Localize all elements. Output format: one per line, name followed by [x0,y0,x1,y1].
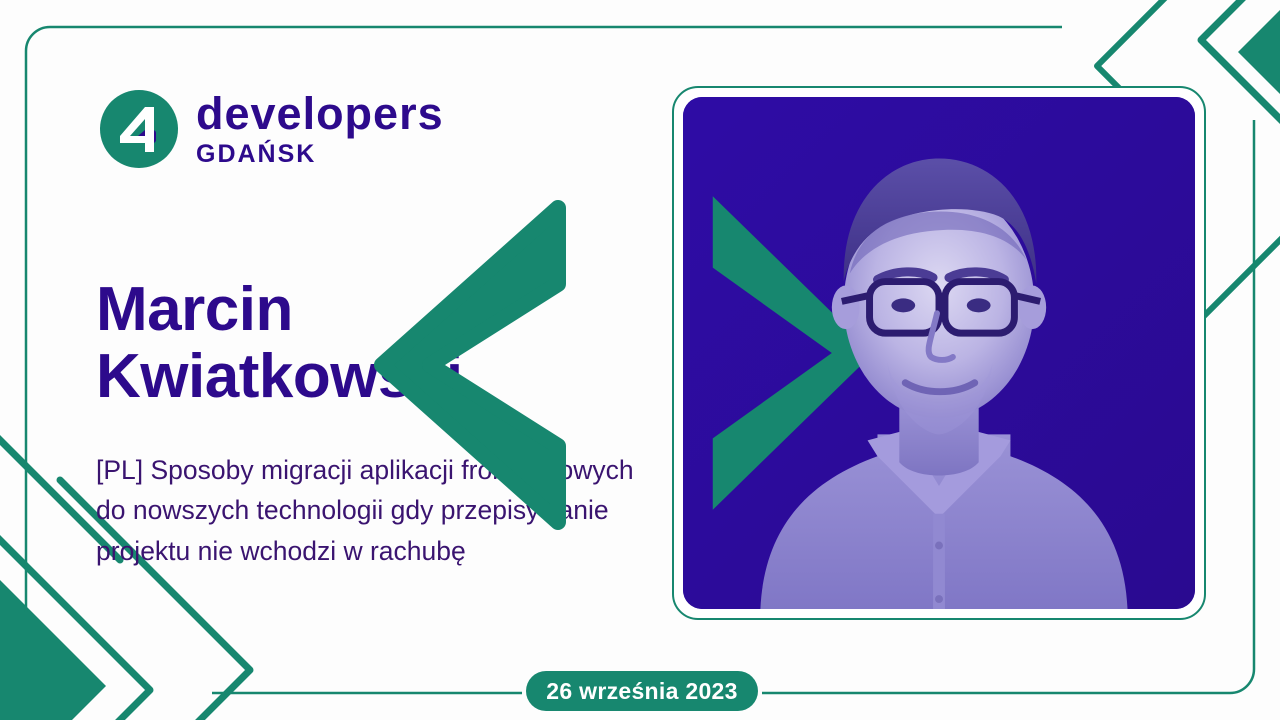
brand-wordmark: developers GDAŃSK [196,91,444,167]
chevron-left-icon [372,200,572,530]
presentation-slide: developers GDAŃSK Marcin Kwiatkowski [PL… [0,0,1280,720]
speaker-photo [683,97,1195,609]
event-date-badge: 26 września 2023 [526,671,758,711]
brand-logo: developers GDAŃSK [100,90,444,168]
brand-name-primary: developers [196,91,444,136]
four-developers-logo-icon [100,90,178,168]
chevron-right-filled-icon [0,520,106,720]
brand-name-secondary: GDAŃSK [196,142,444,167]
speaker-photo-card [672,86,1206,620]
chevron-right-outline-icon [1197,238,1280,323]
chevron-right-icon [691,189,861,499]
chevron-left-filled-icon [1201,0,1280,134]
